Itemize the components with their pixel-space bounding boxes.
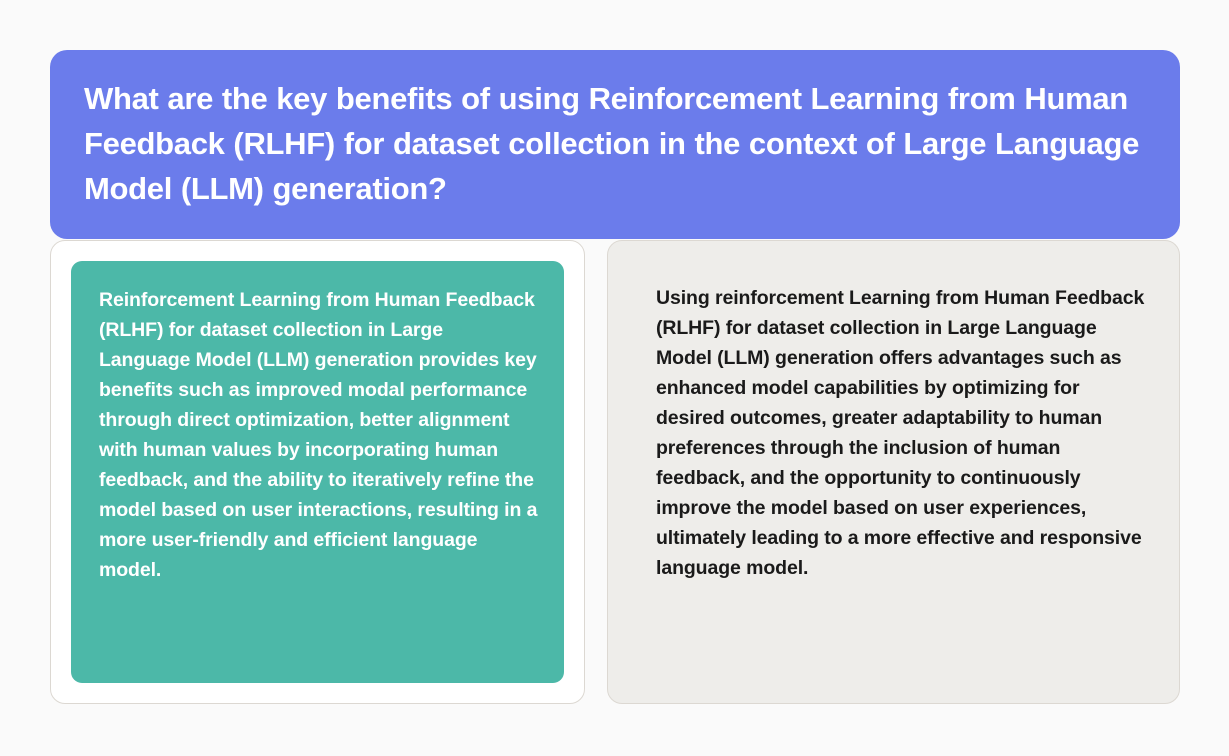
answer-left-text: Reinforcement Learning from Human Feedba…	[99, 285, 538, 585]
comparison-page: What are the key benefits of using Reinf…	[0, 0, 1229, 756]
answer-card-right[interactable]: Using reinforcement Learning from Human …	[607, 240, 1180, 704]
answer-left-accent-panel: Reinforcement Learning from Human Feedba…	[71, 261, 564, 683]
answer-comparison-row: Reinforcement Learning from Human Feedba…	[50, 240, 1180, 704]
answer-right-text: Using reinforcement Learning from Human …	[656, 283, 1149, 583]
question-text: What are the key benefits of using Reinf…	[84, 76, 1146, 211]
question-banner: What are the key benefits of using Reinf…	[50, 50, 1180, 239]
answer-card-left[interactable]: Reinforcement Learning from Human Feedba…	[50, 240, 585, 704]
